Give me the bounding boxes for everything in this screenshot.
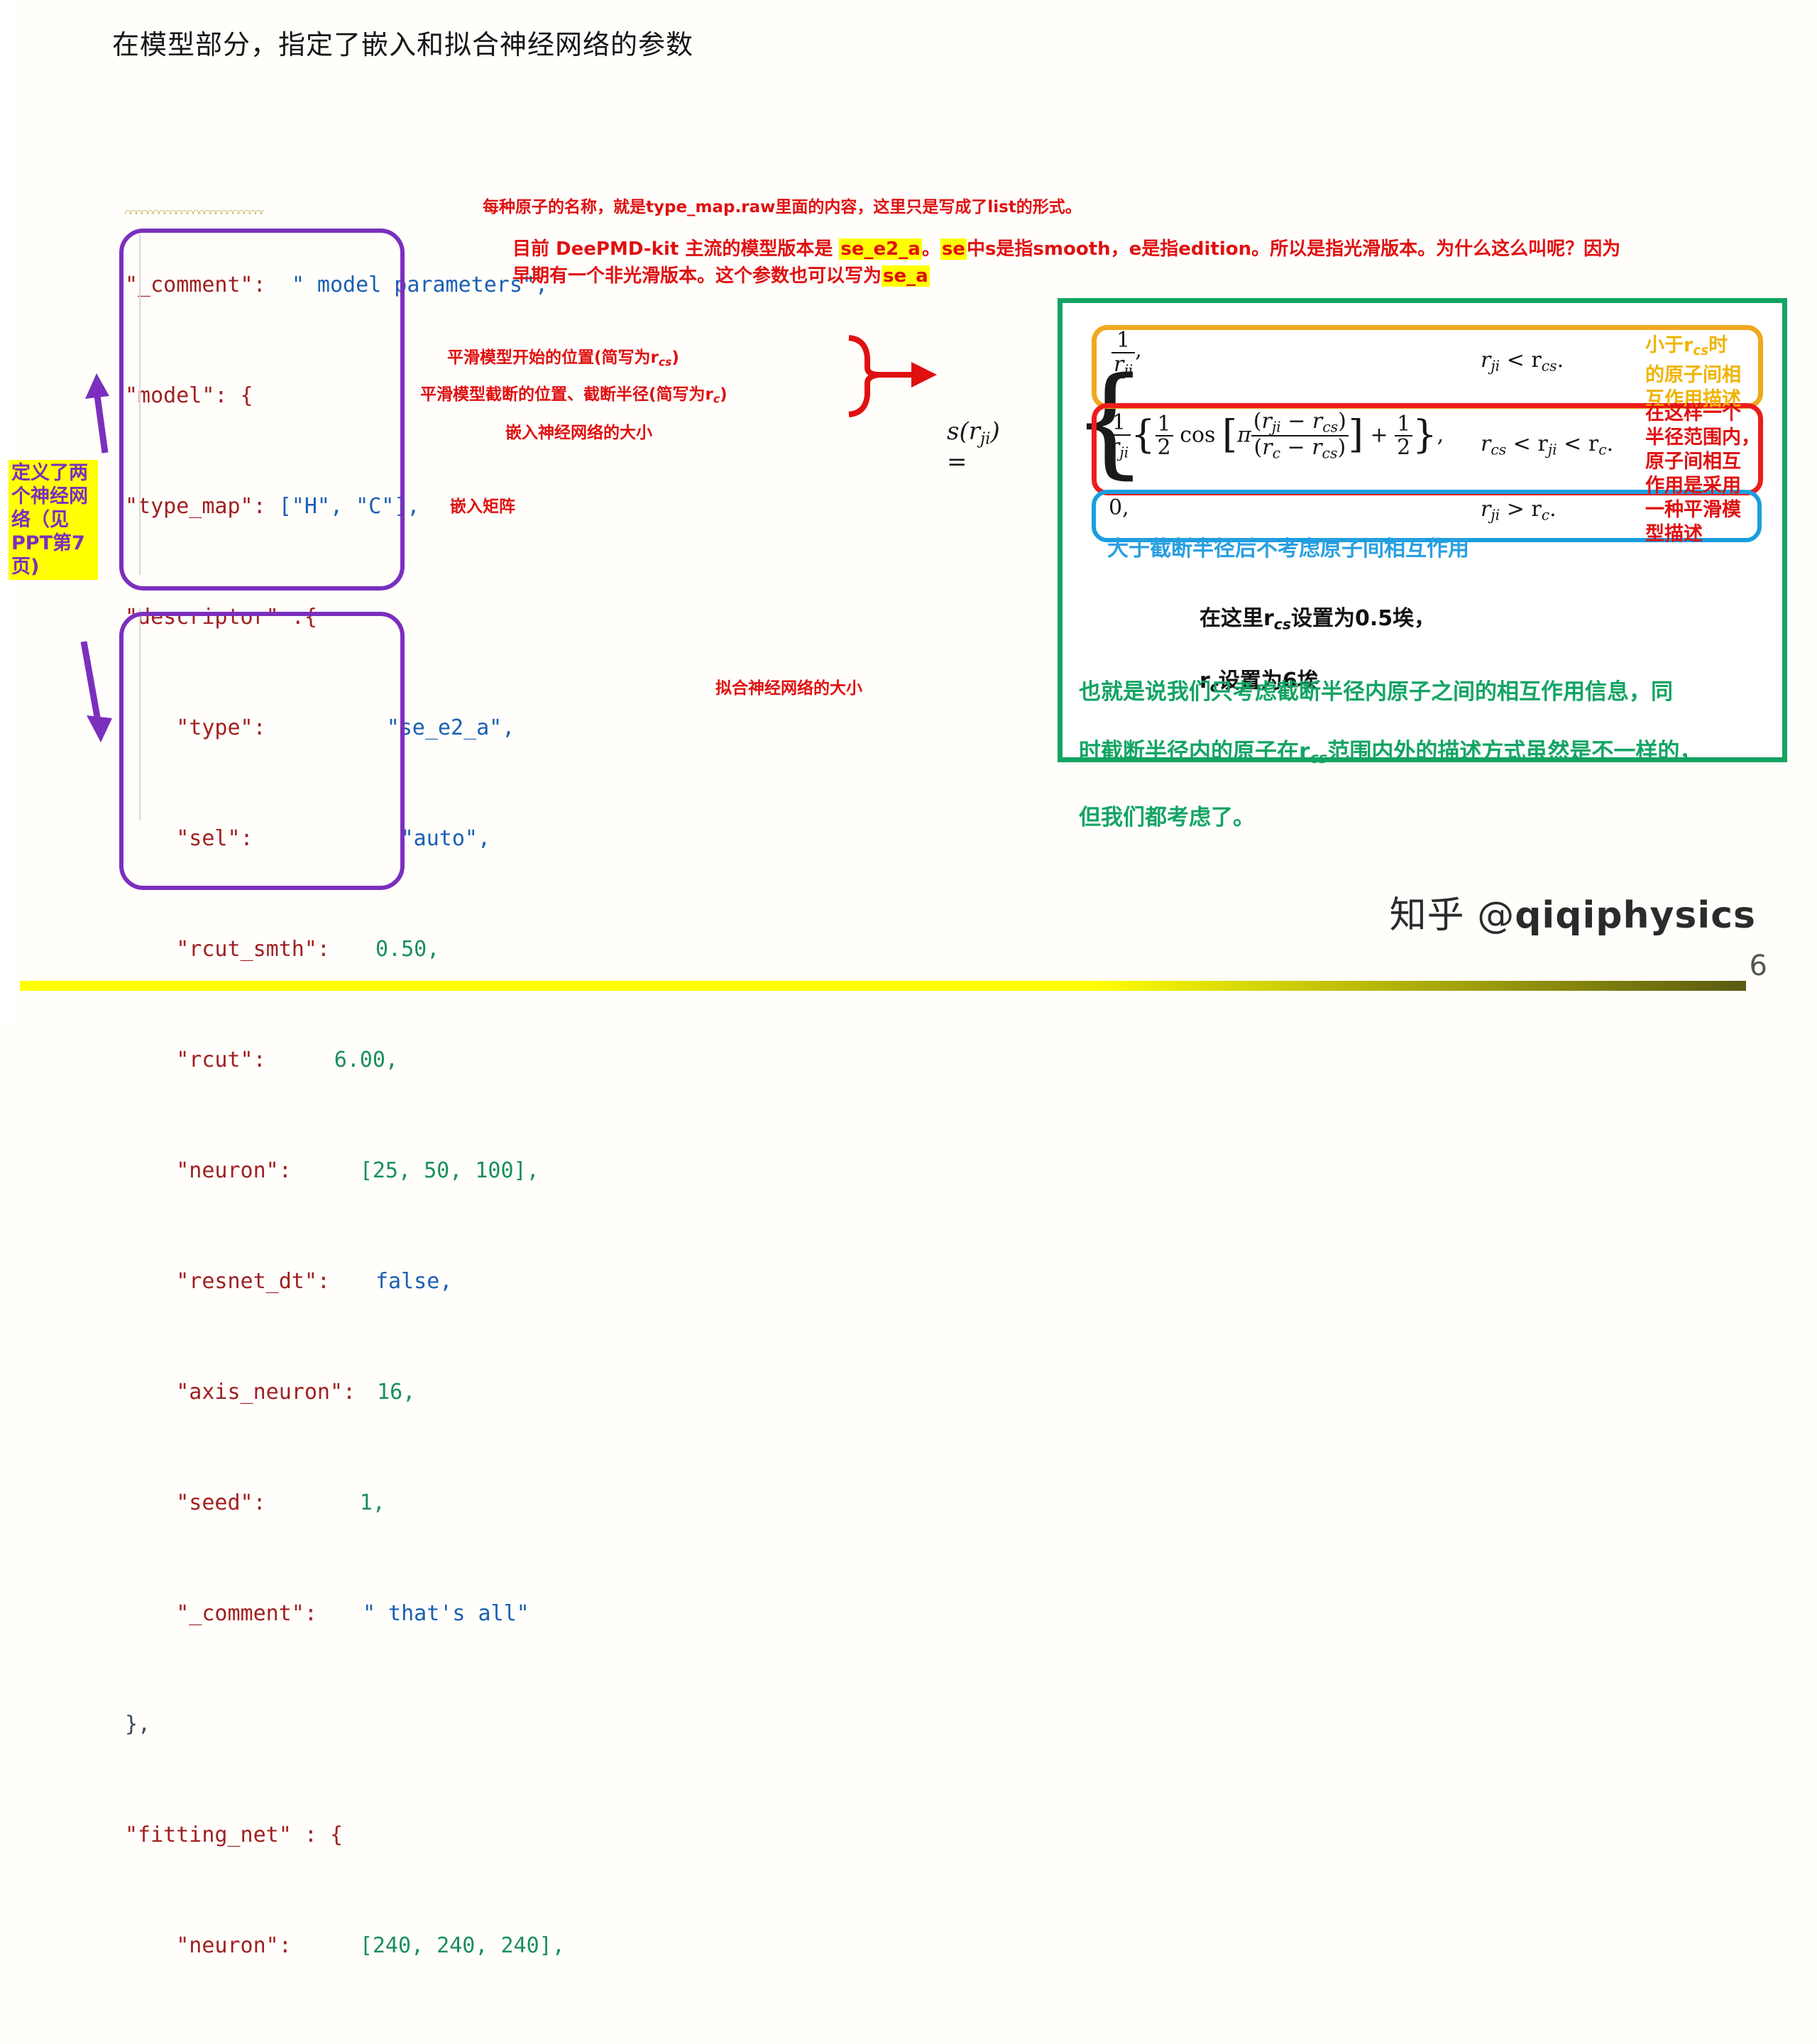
code-value: 16, (377, 1380, 415, 1405)
code-key: "neuron": (125, 1158, 292, 1183)
cond-b-sub: c (1598, 441, 1606, 458)
ann-text: 早期有一个非光滑版本。这个参数也可以写为 (512, 265, 882, 287)
ann-sub: cs (659, 355, 672, 368)
fraction-1-over-rji-2: 1 rji (1107, 412, 1131, 461)
code-value: "auto", (401, 826, 490, 851)
green-l3: 但我们都考虑了。 (1079, 805, 1255, 830)
code-line: "resnet_dt":false, (125, 1263, 565, 1300)
code-line: }, (125, 1706, 565, 1743)
code-value: [25, 50, 100], (360, 1158, 539, 1183)
code-value: 0.50, (375, 937, 439, 962)
annotation-descriptor-line2: 早期有一个非光滑版本。这个参数也可以写为se_a (512, 261, 930, 287)
frac-den: 2 (1395, 435, 1412, 459)
code-value: [240, 240, 240], (360, 1933, 565, 1958)
label-orange-case1: 小于rcs时 的原子间相 互作用描述 (1645, 309, 1801, 412)
frac-den: (rc − rcs) (1251, 435, 1349, 461)
ann-text: ) (671, 348, 679, 367)
ann-text: 中s是指smooth，e是指edition。所以是指光滑版本。为什么这么叫呢？因… (967, 238, 1620, 260)
case1-expression: 1 rji , (1111, 329, 1142, 378)
annotation-rcut: 平滑模型截断的位置、截断半径(简写为rc) (420, 380, 728, 405)
frac-den: 2 (1155, 435, 1173, 459)
den-sub2: cs (1322, 445, 1338, 462)
case2-expression: 1 rji {12 cos [π (rji − rcs) (rc − rcs) … (1107, 410, 1444, 462)
case3-expression: 0, (1109, 495, 1129, 520)
lhs-sub: ji (980, 429, 991, 448)
ann-text: 平滑模型开始的位置(简写为r (447, 348, 659, 367)
cond-rel: < r (1500, 348, 1542, 373)
frac-num: (rji − rcs) (1251, 410, 1349, 435)
annotation-rcut-smth: 平滑模型开始的位置(简写为rcs) (447, 344, 679, 368)
ann-highlight: se (940, 238, 967, 260)
ann-highlight: se_a (882, 265, 930, 287)
frac-num: 1 (1107, 412, 1131, 434)
note-a-end: 设置为0.5埃， (1291, 606, 1435, 631)
cond-end: . (1557, 348, 1564, 373)
annotation-descriptor-line1: 目前 DeePMD-kit 主流的模型版本是 se_e2_a。se中s是指smo… (512, 234, 1620, 260)
cond-sub: cs (1491, 441, 1506, 458)
frac-den-sub: ji (1119, 444, 1129, 461)
code-value: 1, (360, 1490, 385, 1515)
fraction-one-half-a: 12 (1155, 413, 1173, 460)
note-a: 在这里r (1200, 606, 1274, 631)
code-value: "se_e2_a", (387, 715, 515, 740)
ann-highlight: se_e2_a (839, 238, 921, 260)
code-line: "rcut":6.00, (125, 1042, 565, 1079)
code-value: " that's all" (363, 1601, 529, 1626)
cond-sub: ji (1491, 358, 1500, 375)
cond-mid-sub: ji (1548, 441, 1557, 458)
note-green-summary: 也就是说我们只考虑截断半径内原子之间的相互作用信息，同 时截断半径内的原子在rc… (1079, 647, 1701, 833)
cond-sub: ji (1491, 507, 1500, 524)
lbl-text: 小于r (1645, 334, 1693, 356)
page-title: 在模型部分，指定了嵌入和拟合神经网络的参数 (112, 23, 693, 62)
label-red-case2: 在这样一个 半径范围内， 原子间相互 作用是采用 一种平滑模 型描述 (1645, 402, 1806, 546)
cond-end: . (1549, 497, 1557, 522)
code-line: "axis_neuron":16, (125, 1374, 565, 1411)
code-key: "axis_neuron": (125, 1380, 356, 1405)
code-line: "rcut_smth":0.50, (125, 931, 565, 968)
lhs-text: s(r (947, 417, 980, 446)
green-l2b: 范围内外的描述方式虽然是不一样的， (1327, 739, 1701, 764)
purple-arrow-down-icon (54, 639, 125, 752)
frac-den: rji (1107, 434, 1131, 461)
annotation-neuron-fitting: 拟合神经网络的大小 (715, 674, 862, 698)
cond-rel-sub: c (1542, 507, 1549, 524)
code-key: }, (125, 1712, 150, 1737)
left-side-note: 定义了两个神经网络（见PPT第7页) (9, 460, 98, 580)
note-a-sub: cs (1274, 616, 1291, 633)
code-key: "seed": (125, 1490, 266, 1515)
code-line: "fitting_net" : { (125, 1817, 565, 1854)
fraction-rji-minus-rcs: (rji − rcs) (rc − rcs) (1251, 410, 1349, 462)
code-key: "fitting_net" : { (125, 1823, 343, 1847)
code-line: "seed":1, (125, 1485, 565, 1522)
den-sub: c (1273, 445, 1280, 462)
bottom-accent-bar (20, 981, 1746, 991)
purple-arrow-up-icon (57, 362, 121, 454)
cond-r: r (1481, 432, 1491, 456)
ann-text: ) (720, 385, 728, 404)
cond-end: . (1607, 432, 1614, 456)
ann-text: 平滑模型截断的位置、截断半径(简写为r (420, 385, 713, 404)
code-line: "_comment":" that's all" (125, 1595, 565, 1632)
pi-symbol: π (1237, 422, 1251, 447)
case1-condition: rji < rcs. (1481, 348, 1564, 375)
frac-den: rji (1111, 352, 1135, 378)
annotation-neuron-embed: 嵌入神经网络的大小 (505, 419, 652, 443)
frac-num: 1 (1395, 413, 1412, 436)
cond-rel-sub: cs (1542, 358, 1557, 375)
green-l2a: 时截断半径内的原子在r (1079, 739, 1310, 764)
cos-label: cos (1180, 422, 1215, 447)
num-sub2: cs (1322, 419, 1338, 436)
frac-num: 1 (1155, 413, 1173, 436)
frac-num: 1 (1111, 329, 1135, 352)
num-r: r (1262, 409, 1272, 434)
annotation-axis-neuron: 嵌入矩阵 (450, 493, 515, 517)
code-key: "_comment": (125, 1601, 317, 1626)
ann-text: 目前 DeePMD-kit 主流的模型版本是 (512, 238, 839, 260)
code-value: false, (375, 1269, 452, 1294)
code-key: "rcut": (125, 1048, 266, 1072)
code-line: "neuron":[25, 50, 100], (125, 1153, 565, 1189)
cond-r: r (1481, 497, 1491, 522)
ann-text: 。 (922, 238, 940, 260)
cond-rel: > r (1500, 497, 1542, 522)
watermark: 知乎 @qiqiphysics (1390, 885, 1756, 938)
code-key: "resnet_dt": (125, 1269, 330, 1294)
formula-lhs: s(rji) = (947, 417, 1000, 476)
cond-mid: < r (1506, 432, 1548, 456)
num-sub: ji (1272, 419, 1281, 436)
frac-den-r: r (1114, 352, 1124, 377)
cond-b: < r (1557, 432, 1599, 456)
fraction-one-half-b: 12 (1395, 413, 1412, 460)
page-number: 6 (1750, 950, 1767, 982)
code-line: "resnet_dt":true, (125, 2038, 565, 2044)
green-l2-sub: cs (1310, 749, 1327, 766)
fitting-net-highlight-box (119, 612, 405, 890)
code-key: "neuron": (125, 1933, 292, 1958)
cond-r: r (1481, 348, 1491, 373)
lbl-sub: cs (1693, 344, 1708, 358)
code-value: 6.00, (334, 1048, 398, 1072)
den-r2: r (1312, 435, 1322, 460)
frac-den-r: r (1109, 434, 1119, 459)
frac-den-sub: ji (1124, 362, 1133, 379)
label-blue-case3: 大于截断半径后不考虑原子间相互作用 (1107, 531, 1469, 562)
red-arrow-icon (838, 334, 944, 419)
spellcheck-squiggle (125, 207, 264, 214)
slide-root: 在模型部分，指定了嵌入和拟合神经网络的参数 "_comment": " mode… (0, 0, 1817, 1022)
ann-sub: c (713, 392, 720, 405)
annotation-type-map: 每种原子的名称，就是type_map.raw里面的内容，这里只是写成了list的… (483, 193, 1082, 217)
watermark-prefix: 知乎 @ (1390, 894, 1515, 937)
code-key: "rcut_smth": (125, 937, 330, 962)
descriptor-highlight-box (119, 229, 405, 590)
case2-condition: rcs < rji < rc. (1481, 432, 1613, 458)
watermark-name: qiqiphysics (1515, 894, 1756, 937)
den-r: r (1262, 435, 1272, 460)
green-l1: 也就是说我们只考虑截断半径内原子之间的相互作用信息，同 (1079, 679, 1673, 705)
num-r2: r (1312, 409, 1322, 434)
fraction-1-over-rji: 1 rji (1111, 329, 1135, 378)
case3-condition: rji > rc. (1481, 497, 1557, 524)
code-line: "neuron":[240, 240, 240], (125, 1928, 565, 1965)
